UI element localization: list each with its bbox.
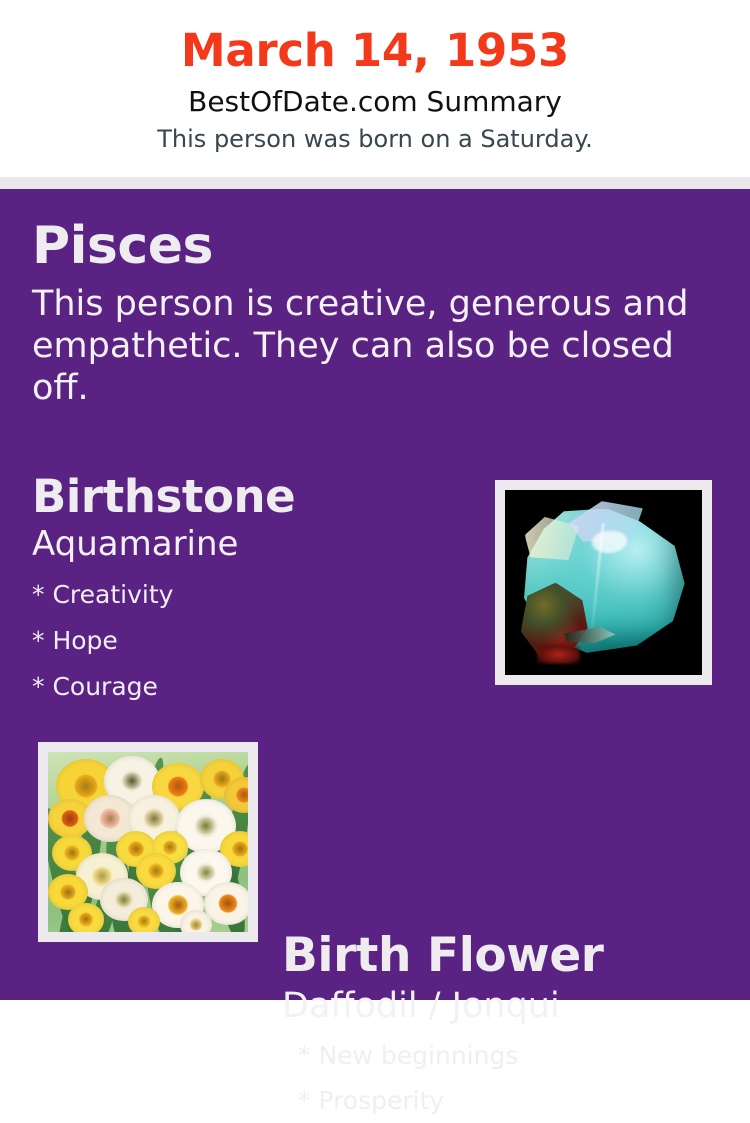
birthflower-section: Birth Flower Daffodil / Jonqui * New beg…: [282, 927, 722, 1123]
birthflower-heading: Birth Flower: [282, 927, 722, 985]
zodiac-sign-name: Pisces: [32, 215, 712, 277]
birthstone-heading: Birthstone: [32, 470, 472, 524]
birthflower-trait-list: * New beginnings * Prosperity: [282, 1033, 722, 1123]
daffodil-flowers-icon: [48, 752, 248, 932]
page-title: March 14, 1953: [0, 24, 750, 78]
zodiac-section: Pisces This person is creative, generous…: [32, 215, 712, 409]
birthstone-section: Birthstone Aquamarine * Creativity * Hop…: [32, 470, 472, 710]
birthflower-image-frame: [38, 742, 258, 942]
list-item: * Hope: [32, 618, 472, 664]
zodiac-description: This person is creative, generous and em…: [32, 283, 704, 409]
list-item: * Creativity: [32, 572, 472, 618]
birth-weekday-note: This person was born on a Saturday.: [0, 122, 750, 156]
birthstone-image: [505, 490, 702, 675]
summary-page: March 14, 1953 BestOfDate.com Summary Th…: [0, 0, 750, 1000]
daffodil-bloom: [128, 907, 160, 932]
list-item: * New beginnings: [298, 1033, 722, 1078]
daffodil-bloom: [68, 903, 104, 932]
list-item: * Prosperity: [298, 1078, 722, 1123]
site-subtitle: BestOfDate.com Summary: [0, 82, 750, 122]
birthstone-name: Aquamarine: [32, 524, 472, 564]
header-divider: [0, 177, 750, 189]
birthstone-image-frame: [495, 480, 712, 685]
daffodil-bloom: [180, 910, 212, 932]
birthflower-name: Daffodil / Jonqui: [282, 985, 722, 1027]
birthflower-image: [48, 752, 248, 932]
birthstone-trait-list: * Creativity * Hope * Courage: [32, 572, 472, 710]
page-header: March 14, 1953 BestOfDate.com Summary Th…: [0, 0, 750, 177]
list-item: * Courage: [32, 664, 472, 710]
aquamarine-crystal-icon: [505, 490, 702, 675]
